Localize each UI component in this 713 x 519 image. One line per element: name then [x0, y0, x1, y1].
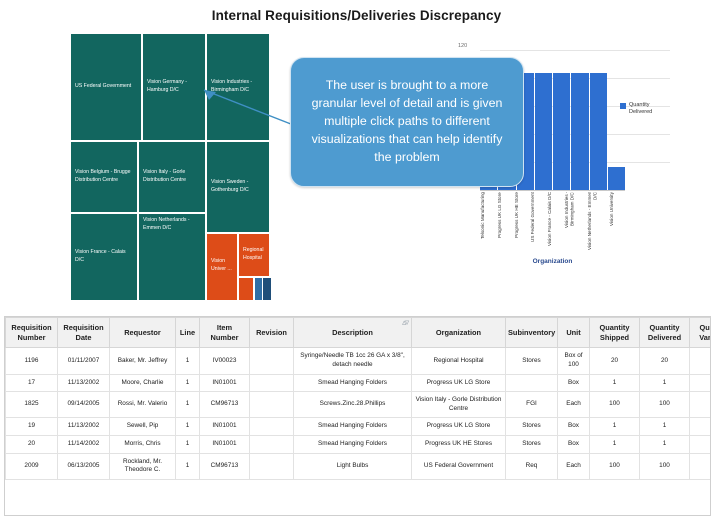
- cell-revision: [250, 374, 294, 392]
- cell-requisition-number: 17: [6, 374, 58, 392]
- cell-quantity-shipped: 1: [590, 374, 640, 392]
- dashboard-page: Internal Requisitions/Deliveries Discrep…: [0, 0, 713, 519]
- table-body: 119601/11/2007Baker, Mr. Jeffrey1IV00023…: [6, 348, 712, 480]
- cell-line: 1: [176, 453, 200, 479]
- treemap-chart[interactable]: US Federal Government Vision Germany - H…: [70, 33, 270, 301]
- cell-quantity-shipped: 100: [590, 392, 640, 418]
- column-header-description[interactable]: Description △▽: [294, 318, 412, 348]
- requisitions-table[interactable]: Requisition Number Requisition Date Requ…: [4, 316, 711, 516]
- table-row[interactable]: 119601/11/2007Baker, Mr. Jeffrey1IV00023…: [6, 348, 712, 374]
- x-tick-label-5: Vision Industries - Birmingham D/C: [564, 192, 586, 254]
- cell-unit: Each: [558, 453, 590, 479]
- cell-unit: Box: [558, 418, 590, 436]
- column-header-requestor[interactable]: Requestor: [110, 318, 176, 348]
- cell-requisition-date: 09/14/2005: [58, 392, 110, 418]
- column-header-requisition-date[interactable]: Requisition Date: [58, 318, 110, 348]
- page-title: Internal Requisitions/Deliveries Discrep…: [0, 8, 713, 23]
- cell-requisition-date: 11/13/2002: [58, 374, 110, 392]
- treemap-tile-vision-sweden-gothenburg[interactable]: Vision Sweden - Gothenburg D/C: [206, 141, 270, 233]
- bar-6[interactable]: [590, 73, 607, 190]
- callout-text: The user is brought to a more granular l…: [291, 77, 523, 167]
- cell-unit: Box: [558, 374, 590, 392]
- cell-requestor: Rossi, Mr. Valerio: [110, 392, 176, 418]
- cell-item-number: IN01001: [200, 418, 250, 436]
- sort-arrows-icon[interactable]: △▽: [402, 320, 408, 327]
- bar-7[interactable]: [608, 167, 625, 190]
- column-header-quantity-variance[interactable]: Quantity Variance: [690, 318, 712, 348]
- treemap-tile-us-federal-government[interactable]: US Federal Government: [70, 33, 142, 141]
- treemap-tile-label: Vision Italy - Gorle Distribution Centre: [143, 169, 201, 184]
- column-header-line[interactable]: Line: [176, 318, 200, 348]
- cell-quantity-variance: 0: [690, 392, 712, 418]
- cell-quantity-shipped: 1: [590, 436, 640, 454]
- x-tick-label-1: Progress UK LG Store: [497, 192, 513, 254]
- treemap-tile-small-orange[interactable]: [238, 277, 254, 301]
- treemap-tile-label: US Federal Government: [75, 83, 131, 91]
- cell-quantity-delivered: 1: [640, 436, 690, 454]
- cell-item-number: CM96713: [200, 453, 250, 479]
- cell-requisition-number: 19: [6, 418, 58, 436]
- column-header-quantity-delivered[interactable]: Quantity Delivered: [640, 318, 690, 348]
- x-axis-tick-labels: Telsonic ManufacturingProgress UK LG Sto…: [480, 192, 625, 254]
- treemap-tile-label: Regional Hospital: [243, 247, 265, 262]
- cell-organization: US Federal Government: [412, 453, 506, 479]
- cell-requestor: Moore, Charlie: [110, 374, 176, 392]
- callout-arrow-icon: [188, 84, 300, 130]
- treemap-tile-vision-netherlands-emmen[interactable]: Vision Netherlands - Emmen D/C: [138, 213, 206, 301]
- cell-requisition-number: 1196: [6, 348, 58, 374]
- x-tick-label-3: US Federal Government: [530, 192, 546, 254]
- cell-line: 1: [176, 392, 200, 418]
- x-tick-label-4: Vision France - Calais D/C: [547, 192, 563, 254]
- cell-organization: Progress UK LG Store: [412, 374, 506, 392]
- cell-quantity-delivered: 100: [640, 453, 690, 479]
- cell-item-number: IV00023: [200, 348, 250, 374]
- cell-subinventory: Stores: [506, 436, 558, 454]
- cell-organization: Progress UK HE Stores: [412, 436, 506, 454]
- column-header-quantity-shipped[interactable]: Quantity Shipped: [590, 318, 640, 348]
- cell-subinventory: Stores: [506, 418, 558, 436]
- treemap-tile-label: Vision Netherlands - Emmen D/C: [143, 217, 201, 232]
- cell-quantity-variance: 0: [690, 453, 712, 479]
- x-tick-label-7: Vision University: [609, 192, 625, 254]
- cell-organization: Vision Italy - Gorle Distribution Centre: [412, 392, 506, 418]
- cell-requestor: Rockland, Mr. Theodore C.: [110, 453, 176, 479]
- table-header-row: Requisition Number Requisition Date Requ…: [6, 318, 712, 348]
- table-row[interactable]: 182509/14/2005Rossi, Mr. Valerio1CM96713…: [6, 392, 712, 418]
- column-header-organization[interactable]: Organization: [412, 318, 506, 348]
- x-tick-label-2: Progress UK HE Store: [514, 192, 530, 254]
- cell-quantity-variance: 0: [690, 436, 712, 454]
- cell-description: Smead Hanging Folders: [294, 374, 412, 392]
- cell-organization: Regional Hospital: [412, 348, 506, 374]
- legend-swatch-icon: [620, 103, 626, 109]
- cell-subinventory: FGI: [506, 392, 558, 418]
- cell-requisition-number: 20: [6, 436, 58, 454]
- treemap-tile-regional-hospital[interactable]: Regional Hospital: [238, 233, 270, 277]
- cell-quantity-delivered: 100: [640, 392, 690, 418]
- legend-label: Quantity Delivered: [629, 102, 669, 117]
- table-row[interactable]: 2011/14/2002Morris, Chris1IN01001Smead H…: [6, 436, 712, 454]
- cell-unit: Each: [558, 392, 590, 418]
- cell-requisition-date: 01/11/2007: [58, 348, 110, 374]
- cell-item-number: CM96713: [200, 392, 250, 418]
- cell-quantity-delivered: 1: [640, 374, 690, 392]
- cell-requisition-number: 2009: [6, 453, 58, 479]
- column-header-revision[interactable]: Revision: [250, 318, 294, 348]
- chart-legend[interactable]: Quantity Delivered: [620, 102, 669, 117]
- column-header-requisition-number[interactable]: Requisition Number: [6, 318, 58, 348]
- cell-revision: [250, 436, 294, 454]
- cell-revision: [250, 453, 294, 479]
- cell-quantity-delivered: 1: [640, 418, 690, 436]
- treemap-tile-vision-university[interactable]: Vision Univer ...: [206, 233, 238, 301]
- cell-description: Syringe/Needle TB 1cc 26 GA x 3/8", deta…: [294, 348, 412, 374]
- cell-description: Smead Hanging Folders: [294, 418, 412, 436]
- cell-subinventory: [506, 374, 558, 392]
- x-tick-label-0: Telsonic Manufacturing: [480, 192, 496, 254]
- cell-quantity-variance: 0: [690, 418, 712, 436]
- treemap-tile-label: Vision Belgium - Brugge Distribution Cen…: [75, 169, 133, 184]
- table-row[interactable]: 1711/13/2002Moore, Charlie1IN01001Smead …: [6, 374, 712, 392]
- callout-bubble[interactable]: The user is brought to a more granular l…: [290, 57, 524, 187]
- table-row[interactable]: 1911/13/2002Sewell, Pip1IN01001Smead Han…: [6, 418, 712, 436]
- y-axis-max-label: 120: [458, 43, 467, 49]
- cell-organization: Progress UK LG Store: [412, 418, 506, 436]
- requisitions-table-element: Requisition Number Requisition Date Requ…: [5, 317, 711, 480]
- treemap-tile-label: Vision France - Calais D/C: [75, 249, 133, 264]
- treemap-tile-vision-france-calais[interactable]: Vision France - Calais D/C: [70, 213, 138, 301]
- cell-requestor: Sewell, Pip: [110, 418, 176, 436]
- table-row[interactable]: 200906/13/2005Rockland, Mr. Theodore C.1…: [6, 453, 712, 479]
- x-tick-label-6: Vision Netherlands - Emmen D/C: [587, 192, 609, 254]
- cell-item-number: IN01001: [200, 374, 250, 392]
- column-header-subinventory[interactable]: Subinventory: [506, 318, 558, 348]
- cell-quantity-delivered: 20: [640, 348, 690, 374]
- cell-unit: Box: [558, 436, 590, 454]
- cell-line: 1: [176, 436, 200, 454]
- cell-requestor: Morris, Chris: [110, 436, 176, 454]
- cell-line: 1: [176, 418, 200, 436]
- cell-requisition-date: 11/13/2002: [58, 418, 110, 436]
- cell-quantity-shipped: 20: [590, 348, 640, 374]
- treemap-tile-vision-belgium-brugge[interactable]: Vision Belgium - Brugge Distribution Cen…: [70, 141, 138, 213]
- table-header: Requisition Number Requisition Date Requ…: [6, 318, 712, 348]
- cell-requestor: Baker, Mr. Jeffrey: [110, 348, 176, 374]
- cell-revision: [250, 392, 294, 418]
- treemap-tile-label: Vision Sweden - Gothenburg D/C: [211, 179, 265, 194]
- cell-description: Smead Hanging Folders: [294, 436, 412, 454]
- x-axis-title: Organization: [480, 258, 625, 265]
- cell-revision: [250, 348, 294, 374]
- bar-3[interactable]: [535, 73, 552, 190]
- cell-description: Screws.Zinc.28.Phillips: [294, 392, 412, 418]
- cell-line: 1: [176, 374, 200, 392]
- cell-subinventory: Req: [506, 453, 558, 479]
- cell-quantity-shipped: 1: [590, 418, 640, 436]
- cell-description: Light Bulbs: [294, 453, 412, 479]
- cell-quantity-variance: 0: [690, 348, 712, 374]
- treemap-tile-vision-italy-gorle[interactable]: Vision Italy - Gorle Distribution Centre: [138, 141, 206, 213]
- cell-item-number: IN01001: [200, 436, 250, 454]
- cell-quantity-variance: 0: [690, 374, 712, 392]
- column-header-unit[interactable]: Unit: [558, 318, 590, 348]
- column-header-item-number[interactable]: Item Number: [200, 318, 250, 348]
- cell-subinventory: Stores: [506, 348, 558, 374]
- treemap-tile-small-blue-b[interactable]: [262, 277, 272, 301]
- treemap-tile-label: Vision Univer ...: [211, 258, 233, 273]
- cell-requisition-number: 1825: [6, 392, 58, 418]
- cell-quantity-shipped: 100: [590, 453, 640, 479]
- cell-unit: Box of 100: [558, 348, 590, 374]
- cell-line: 1: [176, 348, 200, 374]
- cell-requisition-date: 06/13/2005: [58, 453, 110, 479]
- column-header-description-label: Description: [332, 328, 373, 337]
- cell-requisition-date: 11/14/2002: [58, 436, 110, 454]
- cell-revision: [250, 418, 294, 436]
- bar-4[interactable]: [553, 73, 570, 190]
- bar-5[interactable]: [571, 73, 588, 190]
